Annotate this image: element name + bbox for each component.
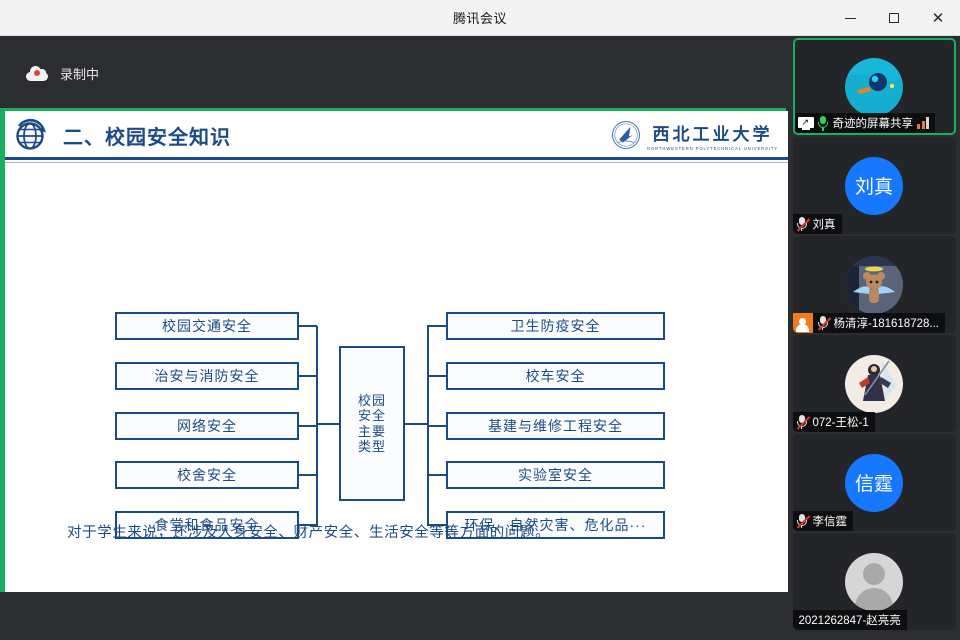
avatar — [845, 256, 903, 314]
university-name-en: NORTHWESTERN POLYTECHNICAL UNIVERSITY — [647, 146, 778, 151]
participant-name: 2021262847-赵亮亮 — [799, 612, 901, 628]
mic-off-icon — [796, 415, 809, 430]
connector-left-3 — [299, 425, 317, 427]
slide-header: 二、校园安全知识 西北工业大学 NORTHWESTERN POLYTECHNIC… — [5, 111, 788, 159]
participant-name: 奇迹的屏幕共享 — [833, 115, 914, 131]
avatar: 刘真 — [845, 157, 903, 215]
shared-screen-frame[interactable]: 二、校园安全知识 西北工业大学 NORTHWESTERN POLYTECHNIC… — [0, 108, 786, 592]
connector-left-to-center — [316, 423, 340, 425]
header-rule-light — [5, 162, 788, 163]
participant-tile-6[interactable]: 2021262847-赵亮亮 — [793, 533, 956, 630]
connector-left-2 — [299, 375, 317, 377]
participant-tile-4[interactable]: 072-王松-1 — [793, 335, 956, 432]
avatar-image — [845, 355, 903, 413]
connector-right-4 — [427, 474, 446, 476]
participant-namebar: 李信霆 — [793, 511, 854, 531]
participant-tile-2[interactable]: 刘真 刘真 — [793, 137, 956, 234]
connector-center-to-right — [404, 423, 428, 425]
diagram-box-right-3: 基建与维修工程安全 — [446, 412, 665, 440]
diagram-box-right-1: 卫生防疫安全 — [446, 312, 665, 340]
participant-tile-1[interactable]: ↗ 奇迹的屏幕共享 — [793, 38, 956, 135]
maximize-icon — [889, 13, 899, 23]
university-name-cn: 西北工业大学 — [653, 120, 773, 145]
slide-note: 对于学生来说，还涉及人身安全、财产安全、生活安全等等方面的问题。 — [67, 521, 747, 542]
avatar — [845, 553, 903, 611]
close-button[interactable]: ✕ — [916, 0, 960, 36]
screen-share-icon: ↗ — [798, 117, 814, 130]
diagram-box-right-4: 实验室安全 — [446, 461, 665, 489]
participant-name: 杨清淳-181618728... — [834, 315, 939, 331]
close-icon: ✕ — [932, 11, 945, 26]
mic-on-icon — [818, 116, 829, 131]
participant-tile-3[interactable]: 杨清淳-181618728... — [793, 236, 956, 333]
safety-types-diagram: 校园交通安全 治安与消防安全 网络安全 校舍安全 食堂和食品安全 卫生防疫安全 … — [5, 169, 788, 549]
participant-strip[interactable]: ↗ 奇迹的屏幕共享 刘真 刘真 — [788, 36, 960, 640]
default-avatar-icon — [863, 563, 885, 585]
connector-left-4 — [299, 474, 317, 476]
participant-namebar: ↗ 奇迹的屏幕共享 — [795, 113, 936, 133]
meeting-stage: 录制中 — [0, 36, 960, 640]
recording-indicator: 录制中 — [0, 36, 788, 110]
window-title: 腾讯会议 — [453, 8, 507, 27]
avatar-image — [845, 256, 903, 314]
university-logo: 西北工业大学 NORTHWESTERN POLYTECHNICAL UNIVER… — [611, 117, 778, 153]
minimize-icon — [845, 18, 856, 19]
participant-namebar: 072-王松-1 — [793, 412, 875, 432]
participant-name: 刘真 — [813, 216, 836, 232]
maximize-button[interactable] — [872, 0, 916, 36]
recording-label: 录制中 — [60, 64, 99, 83]
avatar — [845, 58, 903, 116]
diagram-box-left-2: 治安与消防安全 — [115, 362, 299, 390]
participant-name: 072-王松-1 — [813, 414, 869, 430]
connector-right-1 — [427, 325, 446, 327]
diagram-box-center: 校园 安全 主要 类型 — [339, 346, 405, 501]
avatar-image — [845, 58, 903, 116]
diagram-box-left-3: 网络安全 — [115, 412, 299, 440]
presentation-slide: 二、校园安全知识 西北工业大学 NORTHWESTERN POLYTECHNIC… — [5, 111, 788, 592]
participant-tile-5[interactable]: 信霆 李信霆 — [793, 434, 956, 531]
connector-right-2 — [427, 375, 446, 377]
globe-icon — [13, 117, 49, 153]
mic-off-icon — [796, 217, 809, 232]
participant-name: 李信霆 — [813, 513, 848, 529]
participant-namebar: 2021262847-赵亮亮 — [793, 610, 907, 630]
window-controls: ✕ — [828, 0, 960, 36]
connector-left-1 — [299, 325, 317, 327]
avatar: 信霆 — [845, 454, 903, 512]
diagram-box-right-2: 校车安全 — [446, 362, 665, 390]
diagram-box-left-1: 校园交通安全 — [115, 312, 299, 340]
connector-right-3 — [427, 425, 446, 427]
diagram-box-left-4: 校舍安全 — [115, 461, 299, 489]
minimize-button[interactable] — [828, 0, 872, 36]
tencent-meeting-window: 腾讯会议 ✕ 录制中 — [0, 0, 960, 640]
slide-title: 二、校园安全知识 — [63, 121, 231, 150]
participant-namebar: 杨清淳-181618728... — [793, 313, 945, 333]
cloud-record-icon — [26, 66, 48, 81]
signal-bars-icon — [917, 117, 929, 129]
university-seal-icon — [611, 120, 641, 150]
participant-namebar: 刘真 — [793, 214, 842, 234]
diagram-center-label: 校园 安全 主要 类型 — [358, 393, 386, 454]
avatar — [845, 355, 903, 413]
window-titlebar: 腾讯会议 ✕ — [0, 0, 960, 36]
header-rule — [5, 157, 788, 160]
host-badge-icon — [793, 313, 813, 333]
mic-off-icon — [796, 514, 809, 529]
mic-off-icon — [817, 316, 830, 331]
